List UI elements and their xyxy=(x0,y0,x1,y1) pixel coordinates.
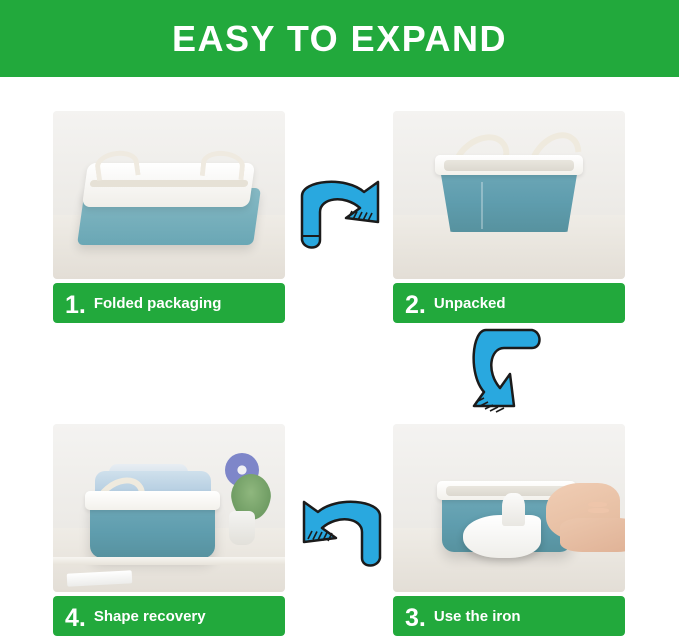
step-card-2: 2. Unpacked xyxy=(393,111,625,323)
vase-decor xyxy=(229,511,255,545)
iron-handle xyxy=(502,493,525,527)
page-title: EASY TO EXPAND xyxy=(172,18,507,60)
basket-rim xyxy=(85,491,220,509)
folded-fabric-seam xyxy=(90,180,249,187)
forearm xyxy=(560,518,625,552)
step-4-label: Shape recovery xyxy=(94,608,206,625)
basket-body xyxy=(90,501,215,558)
step-4-caption: 4. Shape recovery xyxy=(53,596,285,636)
step-1-label: Folded packaging xyxy=(94,295,222,312)
unpacked-basket-scene xyxy=(393,111,625,279)
shape-recovery-scene xyxy=(53,424,285,592)
step-4-number: 4. xyxy=(65,606,86,631)
shelf-edge xyxy=(53,557,285,565)
use-the-iron-scene xyxy=(393,424,625,592)
basket-body xyxy=(439,165,578,232)
basket-fold-line xyxy=(481,182,483,229)
step-1-caption: 1. Folded packaging xyxy=(53,283,285,323)
step-1-photo xyxy=(53,111,285,279)
step-card-1: 1. Folded packaging xyxy=(53,111,285,323)
step-card-3: 3. Use the iron xyxy=(393,424,625,636)
arrow-step-2-to-3 xyxy=(470,322,552,418)
step-3-photo xyxy=(393,424,625,592)
step-1-number: 1. xyxy=(65,293,86,318)
finger xyxy=(588,508,609,513)
arrow-step-1-to-2 xyxy=(294,178,386,260)
step-2-caption: 2. Unpacked xyxy=(393,283,625,323)
step-2-photo xyxy=(393,111,625,279)
step-3-number: 3. xyxy=(405,606,426,631)
step-card-4: 4. Shape recovery xyxy=(53,424,285,636)
basket-interior xyxy=(444,160,574,172)
arrow-step-3-to-4 xyxy=(292,498,388,578)
step-2-number: 2. xyxy=(405,293,426,318)
header-banner: EASY TO EXPAND xyxy=(0,0,679,77)
step-3-caption: 3. Use the iron xyxy=(393,596,625,636)
finger xyxy=(588,502,607,507)
infographic-page: EASY TO EXPAND 1. Folded packaging xyxy=(0,0,679,641)
step-3-label: Use the iron xyxy=(434,608,521,625)
folded-packaging-scene xyxy=(53,111,285,279)
step-2-label: Unpacked xyxy=(434,295,506,312)
step-4-photo xyxy=(53,424,285,592)
